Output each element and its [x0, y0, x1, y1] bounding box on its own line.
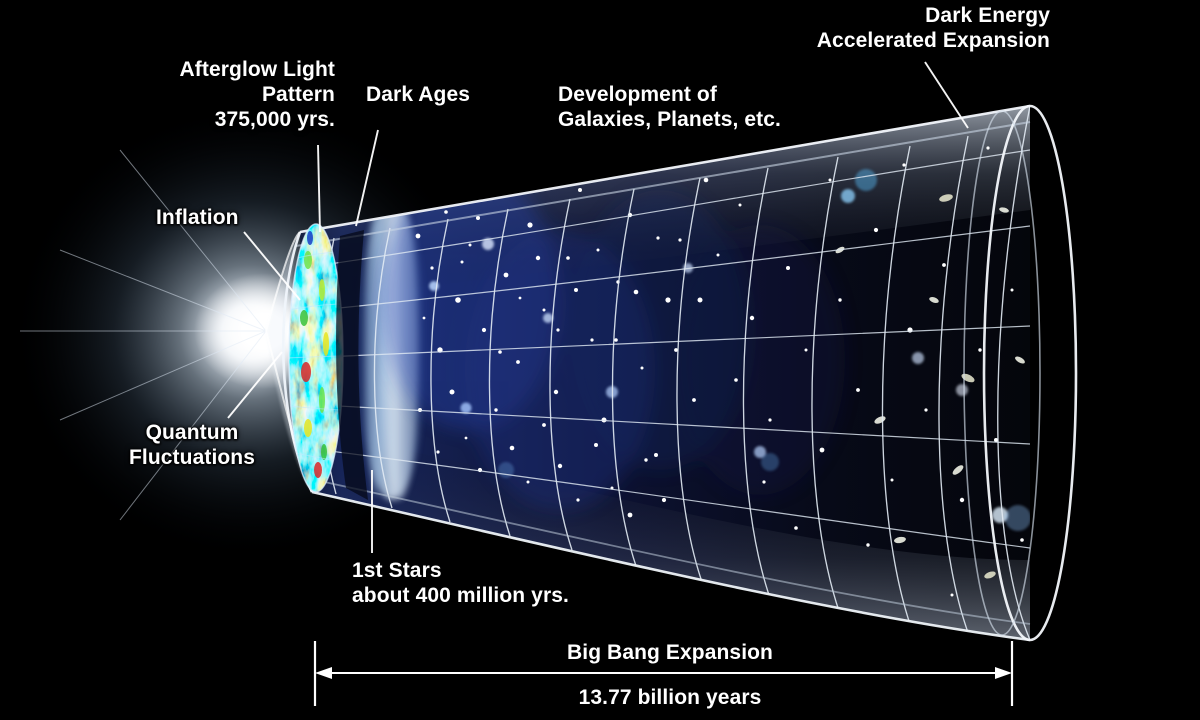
cosmology-illustration [0, 0, 1200, 720]
universe-timeline-figure: Afterglow Light Pattern 375,000 yrs. Dar… [0, 0, 1200, 720]
